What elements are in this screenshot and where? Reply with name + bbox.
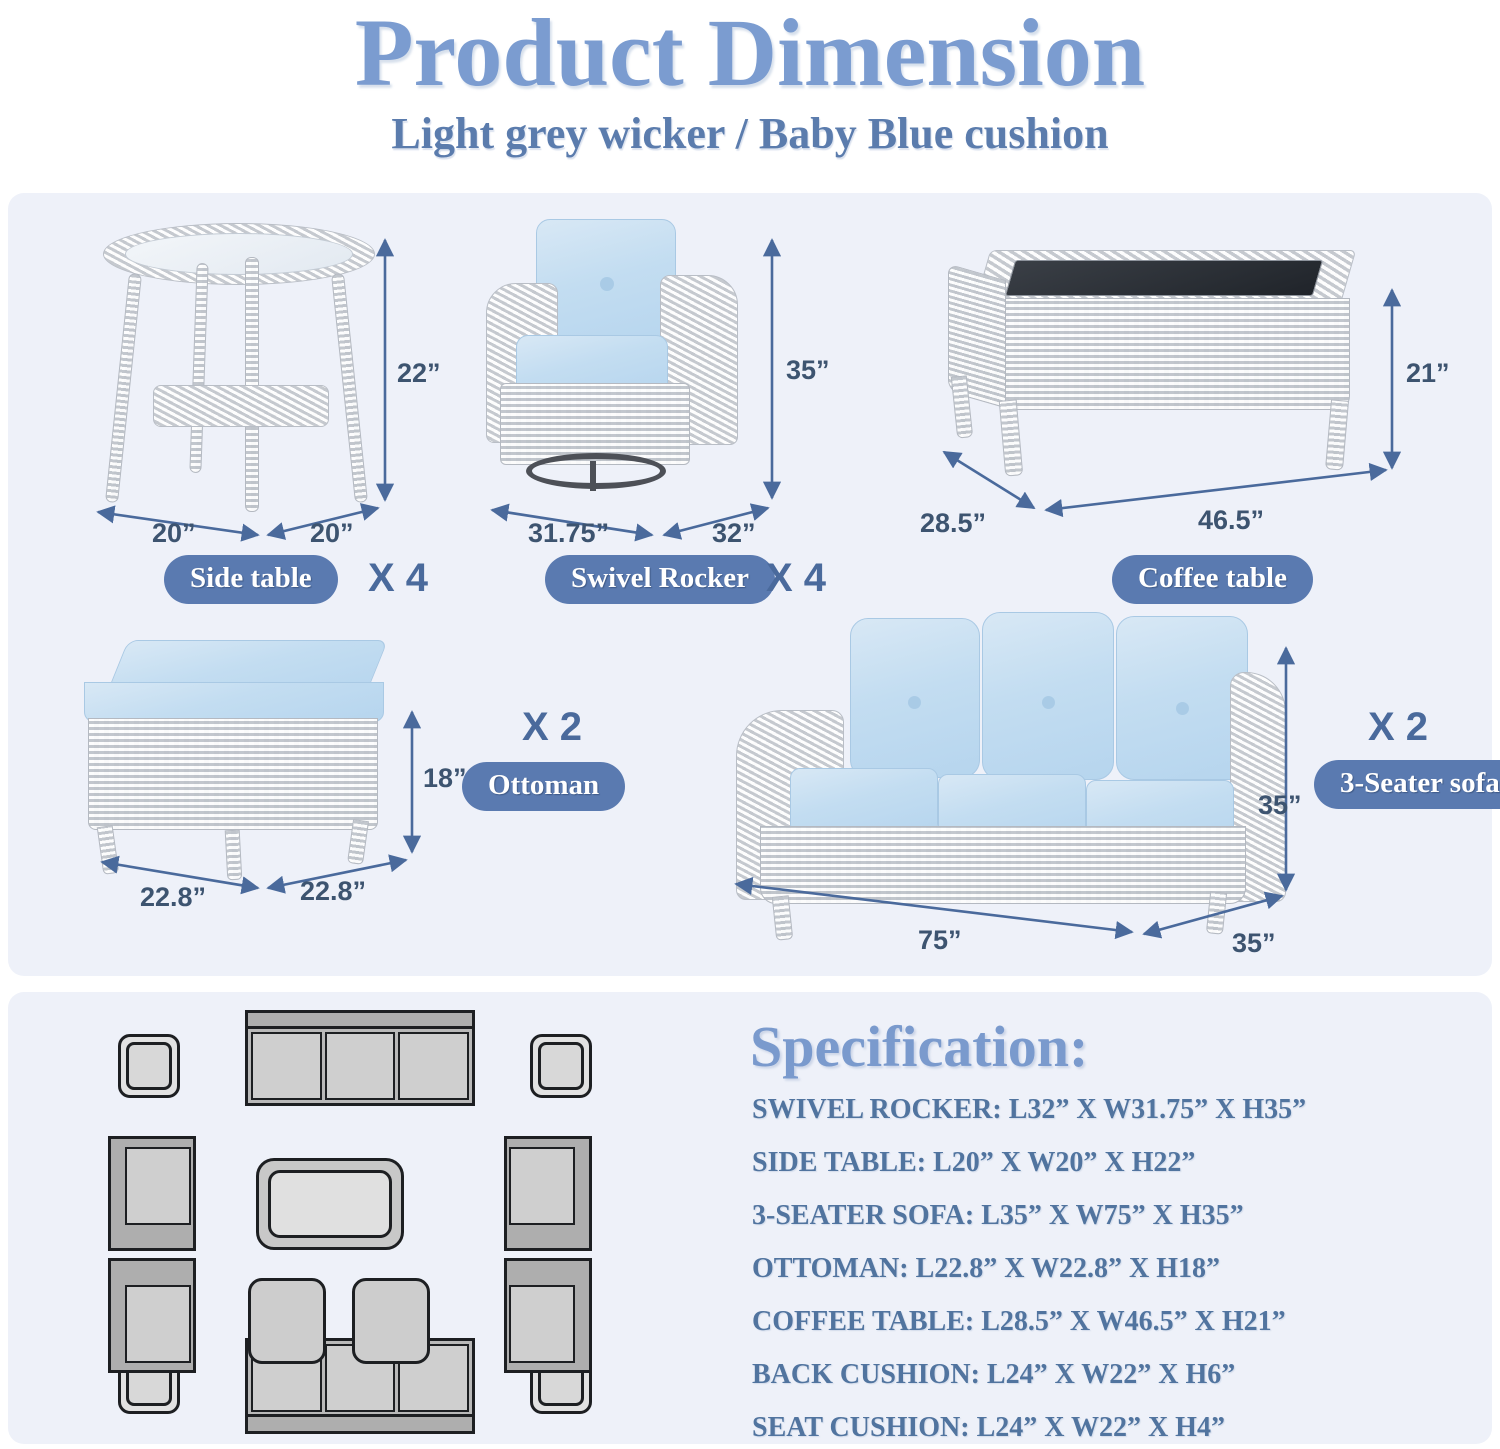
coffee-table-depth-label: 28.5” bbox=[920, 508, 986, 539]
layout-diagram bbox=[108, 1008, 708, 1436]
side-table-multiplier: X 4 bbox=[368, 556, 428, 601]
sofa-seat bbox=[251, 1032, 322, 1100]
specification-list: SWIVEL ROCKER: L32” X W31.75” X H35” SID… bbox=[752, 1094, 1472, 1449]
sofa-multiplier: X 2 bbox=[1368, 705, 1428, 750]
spec-line-side-table: SIDE TABLE: L20” X W20” X H22” bbox=[752, 1147, 1472, 1179]
ottoman-width-label: 22.8” bbox=[140, 882, 206, 913]
sofa-seat bbox=[398, 1032, 469, 1100]
page-subtitle: Light grey wicker / Baby Blue cushion bbox=[0, 108, 1500, 159]
spec-line-three-seater-sofa: 3-SEATER SOFA: L35” X W75” X H35” bbox=[752, 1200, 1472, 1232]
side-table-width-label: 20” bbox=[152, 518, 196, 549]
ottoman-height-label: 18” bbox=[423, 763, 467, 794]
spec-line-seat-cushion: SEAT CUSHION: L24” X W22” X H4” bbox=[752, 1412, 1472, 1444]
side-table-illustration bbox=[95, 215, 395, 515]
layout-chair bbox=[108, 1136, 196, 1251]
side-table-height-label: 22” bbox=[397, 358, 441, 389]
layout-chair bbox=[108, 1258, 196, 1373]
layout-side-table bbox=[118, 1034, 180, 1098]
page-title: Product Dimension bbox=[0, 4, 1500, 102]
header: Product Dimension Light grey wicker / Ba… bbox=[0, 0, 1500, 159]
ottoman-label-pill: Ottoman bbox=[462, 762, 625, 811]
specification-title: Specification: bbox=[750, 1013, 1088, 1080]
ottoman-depth-label: 22.8” bbox=[300, 876, 366, 907]
layout-chair bbox=[504, 1136, 592, 1251]
swivel-rocker-width-label: 31.75” bbox=[528, 518, 609, 549]
swivel-rocker-depth-label: 32” bbox=[712, 518, 756, 549]
spec-line-back-cushion: BACK CUSHION: L24” X W22” X H6” bbox=[752, 1359, 1472, 1391]
side-table-label-pill: Side table bbox=[164, 555, 338, 604]
swivel-rocker-label-pill: Swivel Rocker bbox=[545, 555, 775, 604]
coffee-table-illustration bbox=[940, 250, 1360, 490]
layout-ottoman bbox=[352, 1278, 430, 1364]
sofa-height-label: 35” bbox=[1258, 790, 1302, 821]
coffee-table-label-pill: Coffee table bbox=[1112, 555, 1313, 604]
side-table-depth-label: 20” bbox=[310, 518, 354, 549]
sofa-depth-label: 35” bbox=[1232, 928, 1276, 959]
swivel-rocker-illustration bbox=[478, 215, 748, 515]
spec-line-ottoman: OTTOMAN: L22.8” X W22.8” X H18” bbox=[752, 1253, 1472, 1285]
product-dimension-infographic: Product Dimension Light grey wicker / Ba… bbox=[0, 0, 1500, 1449]
spec-line-coffee-table: COFFEE TABLE: L28.5” X W46.5” X H21” bbox=[752, 1306, 1472, 1338]
sofa-label-pill: 3-Seater sofa bbox=[1314, 760, 1500, 809]
spec-line-swivel-rocker: SWIVEL ROCKER: L32” X W31.75” X H35” bbox=[752, 1094, 1472, 1126]
swivel-rocker-multiplier: X 4 bbox=[766, 556, 826, 601]
ottoman-multiplier: X 2 bbox=[522, 705, 582, 750]
layout-chair bbox=[504, 1258, 592, 1373]
swivel-rocker-height-label: 35” bbox=[786, 355, 830, 386]
ottoman-illustration bbox=[78, 640, 408, 890]
coffee-table-height-label: 21” bbox=[1406, 358, 1450, 389]
layout-ottoman bbox=[248, 1278, 326, 1364]
layout-sofa-top bbox=[245, 1010, 475, 1108]
coffee-table-width-label: 46.5” bbox=[1198, 505, 1264, 536]
sofa-seat bbox=[325, 1032, 396, 1100]
sofa-width-label: 75” bbox=[918, 925, 962, 956]
three-seater-sofa-illustration bbox=[730, 610, 1290, 930]
layout-side-table bbox=[530, 1034, 592, 1098]
layout-coffee-table bbox=[256, 1158, 404, 1250]
